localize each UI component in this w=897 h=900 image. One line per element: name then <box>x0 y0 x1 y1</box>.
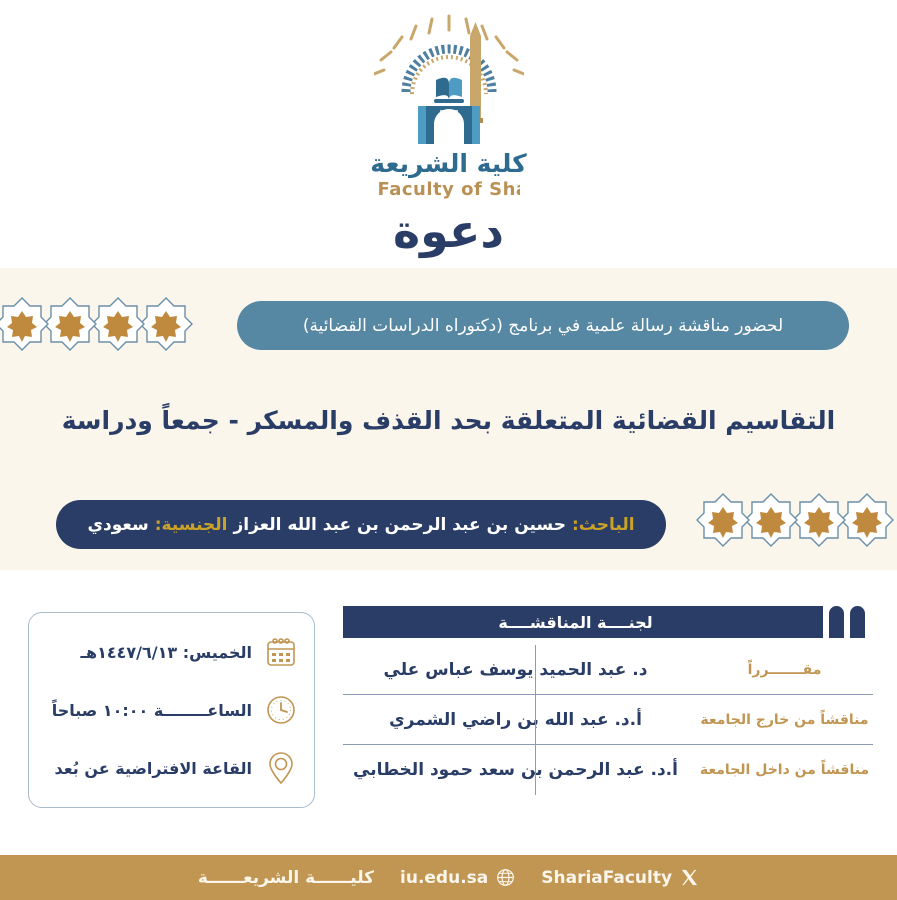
footer-website[interactable]: iu.edu.sa <box>400 868 515 888</box>
event-date-row: الخميس: ١٤٤٧/٦/١٣هـ <box>45 626 298 678</box>
arch-decoration <box>808 606 865 638</box>
researcher-banner: الباحث: حسين بن عبد الرحمن بن عبد الله ا… <box>56 500 666 549</box>
eight-point-star-icon <box>90 296 146 352</box>
location-pin-icon <box>264 751 298 785</box>
event-time-text: الساعــــــــة ١٠:٠٠ صباحاً <box>52 701 252 720</box>
committee-member-name: د. عبد الحميد يوسف عباس علي <box>343 660 688 680</box>
eight-point-star-icon <box>743 492 799 548</box>
arch-shape-icon <box>829 606 844 638</box>
researcher-name: حسين بن عبد الرحمن بن عبد الله العزاز <box>233 515 566 535</box>
globe-icon <box>496 868 515 887</box>
footer-bar: ShariaFaculty iu.edu.sa كليــــــة الشري… <box>0 855 897 900</box>
mosque-arch-book-logo <box>374 14 524 146</box>
star-ornament-right <box>703 492 895 548</box>
table-row: مناقشاً من خارج الجامعة أ.د. عبد الله بن… <box>343 695 873 745</box>
eight-point-star-icon <box>42 296 98 352</box>
faculty-name-arabic: كلية الشريعة <box>370 150 526 178</box>
column-divider <box>535 745 536 795</box>
event-location-text: القاعة الافتراضية عن بُعد <box>54 759 252 778</box>
committee-section: لجنــــة المناقشــــة مقـــــــرراً د. ع… <box>343 606 873 795</box>
footer-twitter[interactable]: ShariaFaculty <box>541 868 699 888</box>
footer-faculty-name: كليــــــة الشريعــــــة <box>198 868 374 888</box>
committee-member-role: مقـــــــرراً <box>688 662 873 678</box>
event-time-row: الساعــــــــة ١٠:٠٠ صباحاً <box>45 684 298 736</box>
footer-website-url: iu.edu.sa <box>400 868 488 888</box>
committee-table: مقـــــــرراً د. عبد الحميد يوسف عباس عل… <box>343 644 873 795</box>
committee-heading: لجنــــة المناقشــــة <box>343 606 808 638</box>
event-date-text: الخميس: ١٤٤٧/٦/١٣هـ <box>81 643 252 662</box>
committee-header: لجنــــة المناقشــــة <box>343 606 873 638</box>
invitation-poster: كلية الشريعة Faculty of Shariah دعوة <box>0 0 897 900</box>
table-row: مقـــــــرراً د. عبد الحميد يوسف عباس عل… <box>343 645 873 695</box>
calendar-icon <box>264 635 298 669</box>
eight-point-star-icon <box>791 492 847 548</box>
arch-shape-icon <box>808 606 823 638</box>
column-divider <box>535 695 536 744</box>
thesis-title: التقاسيم القضائية المتعلقة بحد القذف وال… <box>0 404 897 438</box>
star-ornament-left <box>2 296 194 352</box>
committee-member-role: مناقشاً من داخل الجامعة <box>688 762 873 778</box>
eight-point-star-icon <box>0 296 50 352</box>
eight-point-star-icon <box>138 296 194 352</box>
event-details-card: الخميس: ١٤٤٧/٦/١٣هـ الساعــــــــة ١٠:٠٠… <box>28 612 315 808</box>
x-twitter-icon <box>680 868 699 887</box>
table-row: مناقشاً من داخل الجامعة أ.د. عبد الرحمن … <box>343 745 873 795</box>
clock-icon <box>264 693 298 727</box>
event-subject-banner: لحضور مناقشة رسالة علمية في برنامج (دكتو… <box>237 301 849 350</box>
arch-shape-icon <box>850 606 865 638</box>
committee-member-name: أ.د. عبد الرحمن بن سعد حمود الخطابي <box>343 760 688 780</box>
researcher-label: الباحث: <box>572 515 635 535</box>
header-logo-block: كلية الشريعة Faculty of Shariah دعوة <box>0 14 897 254</box>
eight-point-star-icon <box>839 492 895 548</box>
column-divider <box>535 645 536 694</box>
event-location-row: القاعة الافتراضية عن بُعد <box>45 742 298 794</box>
nationality-value: سعودي <box>87 515 148 535</box>
committee-member-name: أ.د. عبد الله بن راضي الشمري <box>343 710 688 730</box>
faculty-name-english: Faculty of Shariah <box>378 179 520 200</box>
nationality-label: الجنسية: <box>155 515 228 535</box>
invitation-word: دعوة <box>393 208 504 254</box>
committee-member-role: مناقشاً من خارج الجامعة <box>688 712 873 728</box>
eight-point-star-icon <box>695 492 751 548</box>
footer-twitter-handle: ShariaFaculty <box>541 868 672 888</box>
